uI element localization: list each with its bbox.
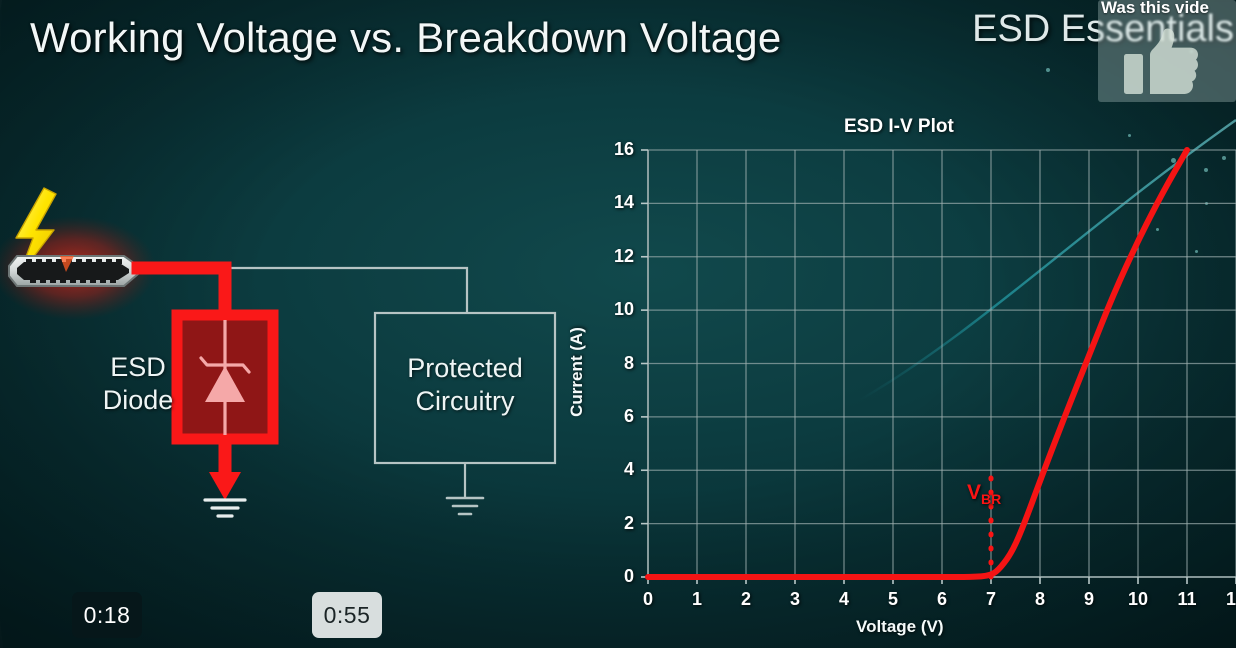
esd-iv-chart: ESD I-V Plot Current (A) Voltage (V) VBR…: [576, 112, 1236, 648]
page-title: Working Voltage vs. Breakdown Voltage: [30, 14, 781, 62]
y-tick-label: 0: [600, 566, 634, 587]
total-time-badge[interactable]: 0:55: [312, 592, 382, 638]
x-tick-label: 6: [927, 589, 957, 610]
sparkle-particle: [1046, 68, 1050, 72]
protected-label-line1: Protected: [380, 352, 550, 385]
y-tick-label: 16: [600, 139, 634, 160]
x-tick-label: 2: [731, 589, 761, 610]
hdmi-connector-icon: [9, 256, 138, 286]
ground-symbol-icon: [205, 500, 245, 516]
video-frame: Working Voltage vs. Breakdown Voltage ES…: [0, 0, 1236, 648]
x-tick-label: 9: [1074, 589, 1104, 610]
protected-circuitry-label: Protected Circuitry: [380, 352, 550, 418]
x-tick-label: 10: [1123, 589, 1153, 610]
esd-diode-box: [177, 315, 273, 439]
signal-wire: [138, 268, 467, 313]
plot-area: [576, 112, 1236, 648]
y-tick-label: 10: [600, 299, 634, 320]
x-tick-label: 0: [633, 589, 663, 610]
esd-diode-label: ESD Diode: [88, 351, 188, 417]
x-tick-label: 8: [1025, 589, 1055, 610]
y-tick-label: 4: [600, 459, 634, 480]
x-tick-label: 12: [1221, 589, 1236, 610]
y-tick-label: 12: [600, 246, 634, 267]
x-tick-label: 11: [1172, 589, 1202, 610]
surge-arrow-head: [209, 472, 241, 500]
x-tick-label: 1: [682, 589, 712, 610]
y-tick-label: 6: [600, 406, 634, 427]
current-time-badge[interactable]: 0:18: [72, 592, 142, 638]
x-tick-label: 3: [780, 589, 810, 610]
x-tick-label: 7: [976, 589, 1006, 610]
thumbs-up-icon[interactable]: [1124, 28, 1200, 96]
chart-title: ESD I-V Plot: [844, 116, 954, 138]
survey-overlay[interactable]: Was this vide: [1098, 0, 1236, 102]
y-axis-label: Current (A): [567, 327, 587, 417]
ground-symbol-icon: [447, 498, 483, 514]
y-tick-label: 2: [600, 513, 634, 534]
y-tick-label: 14: [600, 192, 634, 213]
x-axis-label: Voltage (V): [856, 617, 944, 637]
esd-diode-label-line2: Diode: [88, 384, 188, 417]
x-tick-label: 5: [878, 589, 908, 610]
breakdown-voltage-annotation: VBR: [967, 481, 1001, 507]
survey-question-text: Was this vide: [1101, 0, 1209, 18]
x-tick-label: 4: [829, 589, 859, 610]
y-tick-label: 8: [600, 353, 634, 374]
protected-label-line2: Circuitry: [380, 385, 550, 418]
esd-diode-label-line1: ESD: [88, 351, 188, 384]
